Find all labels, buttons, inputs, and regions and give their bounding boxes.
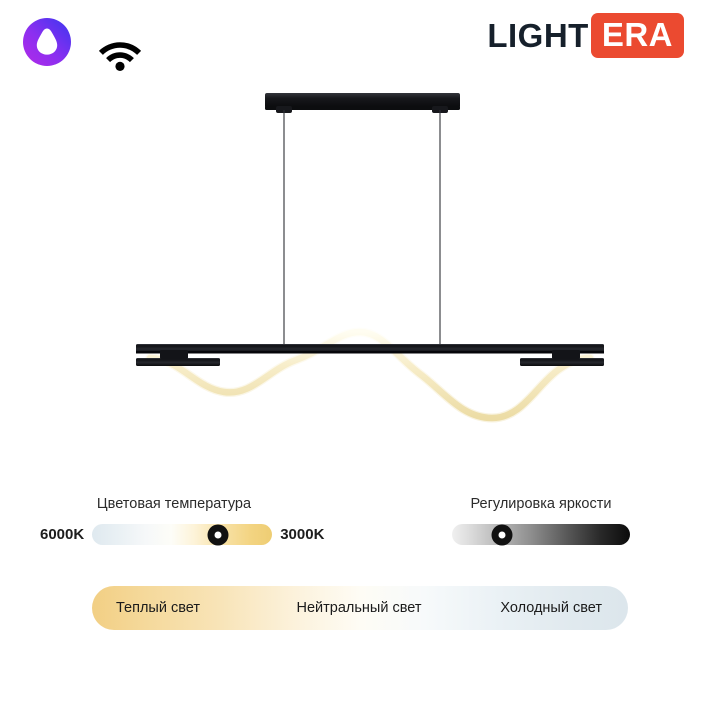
- mode-label-cool: Холодный свет: [500, 600, 602, 616]
- product-illustration: [0, 70, 720, 460]
- color-temperature-slider[interactable]: [92, 524, 272, 545]
- color-temperature-caption: Цветовая температура: [40, 496, 308, 512]
- mode-option-neutral[interactable]: Нейтральный свет: [278, 586, 440, 630]
- brightness-slider[interactable]: [452, 524, 630, 545]
- temperature-min-label: 6000K: [40, 526, 84, 543]
- controls-panel: Цветовая температура 6000K 3000K Регулир…: [0, 488, 720, 658]
- brightness-control: Регулировка яркости: [452, 496, 630, 545]
- lamp-main-bar: [136, 344, 604, 354]
- yandex-alice-icon: [22, 17, 72, 67]
- brand-word-light: LIGHT: [487, 19, 588, 52]
- brand-word-era: ERA: [591, 13, 684, 58]
- brightness-caption: Регулировка яркости: [452, 496, 630, 512]
- mode-label-neutral: Нейтральный свет: [297, 600, 422, 616]
- smart-home-badges: [22, 14, 152, 70]
- color-temperature-knob[interactable]: [208, 524, 229, 545]
- mode-label-warm: Теплый свет: [116, 600, 200, 616]
- lamp-lower-rails: [136, 358, 604, 366]
- color-temperature-control: Цветовая температура 6000K 3000K: [40, 496, 324, 545]
- temperature-max-label: 3000K: [280, 526, 324, 543]
- product-page: LIGHT ERA: [0, 0, 720, 720]
- brand-logo: LIGHT ERA: [487, 17, 684, 53]
- brightness-knob[interactable]: [491, 524, 512, 545]
- mode-option-cool[interactable]: Холодный свет: [440, 586, 628, 630]
- mode-option-warm[interactable]: Теплый свет: [92, 586, 278, 630]
- ceiling-canopy: [265, 93, 460, 113]
- light-mode-bar: Теплый свет Нейтральный свет Холодный св…: [92, 586, 628, 630]
- wifi-icon: [96, 34, 144, 72]
